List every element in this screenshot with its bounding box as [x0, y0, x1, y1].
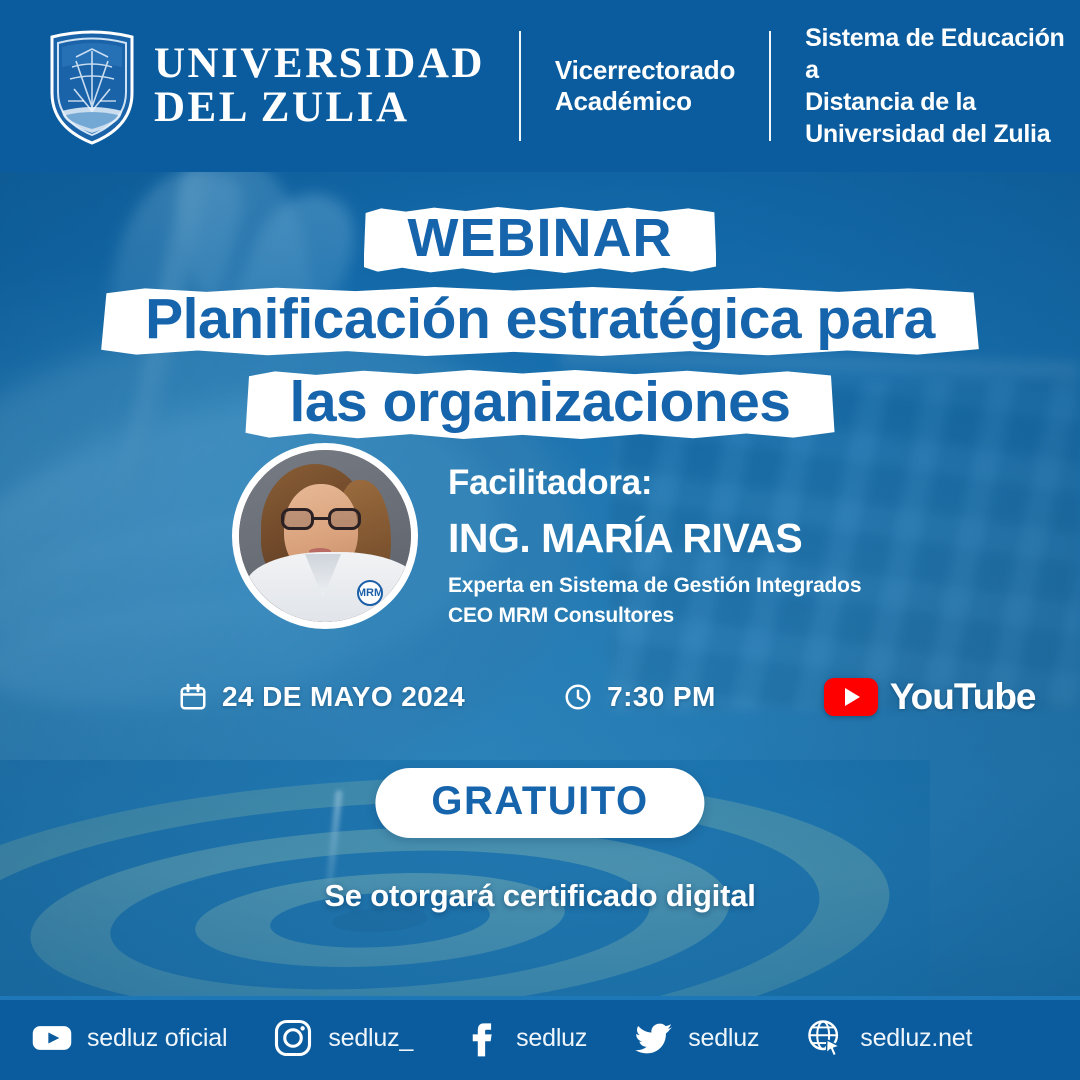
header-divider-2	[769, 31, 771, 141]
event-time-group: 7:30 PM	[563, 681, 716, 713]
youtube-icon	[30, 1016, 74, 1060]
social-website[interactable]: sedluz.net	[803, 1016, 972, 1060]
eyeglasses-icon	[281, 508, 361, 530]
header-bar: UNIVERSIDAD DEL ZULIA Vicerrectorado Aca…	[0, 0, 1080, 172]
header-divider-1	[519, 31, 521, 141]
mrm-logo-badge: MRM	[357, 580, 383, 606]
footer-bar: sedluz oficial sedluz_ sedluz sedluz	[0, 996, 1080, 1080]
facilitator-role-2: CEO MRM Consultores	[448, 601, 861, 631]
facilitator-name: ING. MARÍA RIVAS	[448, 518, 861, 559]
certificate-note: Se otorgará certificado digital	[0, 878, 1080, 914]
event-time: 7:30 PM	[607, 681, 716, 713]
social-handle: sedluz	[688, 1024, 759, 1053]
social-handle: sedluz.net	[860, 1024, 972, 1053]
social-instagram[interactable]: sedluz_	[271, 1016, 413, 1060]
twitter-icon	[631, 1016, 675, 1060]
uz-shield-crest-icon	[46, 27, 138, 145]
title-webinar: WEBINAR	[408, 208, 673, 268]
title-line-3: las organizaciones	[289, 370, 790, 434]
facilitator-role-1: Experta en Sistema de Gestión Integrados	[448, 571, 861, 601]
globe-cursor-icon	[803, 1016, 847, 1060]
social-handle: sedluz_	[328, 1024, 413, 1053]
free-badge: GRATUITO	[375, 768, 704, 838]
clock-icon	[563, 682, 593, 712]
title-line2-banner: Planificación estratégica para	[115, 285, 965, 358]
title-block: WEBINAR Planificación estratégica para l…	[0, 205, 1080, 447]
title-line-2: Planificación estratégica para	[145, 287, 935, 351]
facebook-icon	[459, 1016, 503, 1060]
social-youtube[interactable]: sedluz oficial	[30, 1016, 227, 1060]
social-facebook[interactable]: sedluz	[459, 1016, 587, 1060]
university-name: UNIVERSIDAD DEL ZULIA	[154, 44, 485, 129]
social-handle: sedluz	[516, 1024, 587, 1053]
speaker-block: MRM Facilitadora: ING. MARÍA RIVAS Exper…	[232, 443, 861, 631]
title-line3-banner: las organizaciones	[259, 368, 820, 441]
speaker-avatar: MRM	[232, 443, 418, 629]
sed-label: Sistema de Educación a Distancia de la U…	[805, 22, 1080, 150]
social-handle: sedluz oficial	[87, 1024, 227, 1053]
event-date-group: 24 DE MAYO 2024	[178, 681, 465, 713]
webinar-poster: UNIVERSIDAD DEL ZULIA Vicerrectorado Aca…	[0, 0, 1080, 1080]
calendar-icon	[178, 682, 208, 712]
vicerrectorado-label: Vicerrectorado Académico	[555, 55, 735, 116]
instagram-icon	[271, 1016, 315, 1060]
event-platform-group[interactable]: YouTube	[824, 676, 1036, 718]
university-line-2: DEL ZULIA	[154, 88, 485, 128]
facilitator-label: Facilitadora:	[448, 465, 861, 500]
youtube-wordmark: YouTube	[890, 676, 1036, 718]
event-info-row: 24 DE MAYO 2024 7:30 PM YouTube	[0, 676, 1080, 718]
youtube-play-icon[interactable]	[824, 678, 878, 716]
title-webinar-banner: WEBINAR	[378, 205, 703, 275]
social-twitter[interactable]: sedluz	[631, 1016, 759, 1060]
university-line-1: UNIVERSIDAD	[154, 44, 485, 84]
event-date: 24 DE MAYO 2024	[222, 681, 465, 713]
